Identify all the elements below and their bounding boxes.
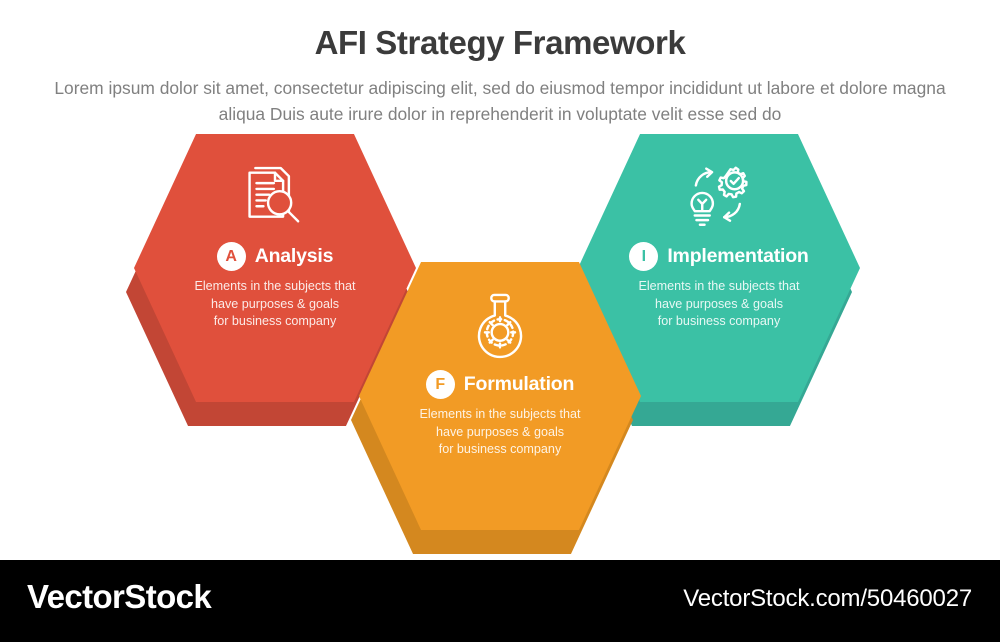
hex-heading-analysis: A Analysis xyxy=(217,242,334,271)
hex-heading-formulation: F Formulation xyxy=(426,370,574,399)
flask-gear-icon xyxy=(463,288,537,362)
hex-description-formulation: Elements in the subjects that have purpo… xyxy=(385,406,615,459)
hex-description-analysis: Elements in the subjects that have purpo… xyxy=(160,278,390,331)
infographic-canvas: AFI Strategy Framework Lorem ipsum dolor… xyxy=(0,0,1000,642)
hex-content-formulation: F Formulation Elements in the subjects t… xyxy=(359,262,641,530)
vectorstock-logo: VectorStock xyxy=(27,578,211,616)
hex-title-formulation: Formulation xyxy=(464,373,574,396)
hexagon-diagram: A Analysis Elements in the subjects that… xyxy=(0,0,1000,560)
hex-badge-analysis: A xyxy=(217,242,246,271)
vectorstock-url: VectorStock.com/50460027 xyxy=(683,585,972,613)
lightbulb-gear-cycle-icon xyxy=(682,160,756,234)
hex-heading-implementation: I Implementation xyxy=(629,242,808,271)
hex-node-formulation[interactable]: F Formulation Elements in the subjects t… xyxy=(359,262,641,530)
hex-title-analysis: Analysis xyxy=(255,245,334,268)
document-magnifier-icon xyxy=(238,160,312,234)
hex-badge-formulation: F xyxy=(426,370,455,399)
footer-bar: VectorStock VectorStock.com/50460027 xyxy=(0,560,1000,642)
hex-title-implementation: Implementation xyxy=(667,245,808,268)
